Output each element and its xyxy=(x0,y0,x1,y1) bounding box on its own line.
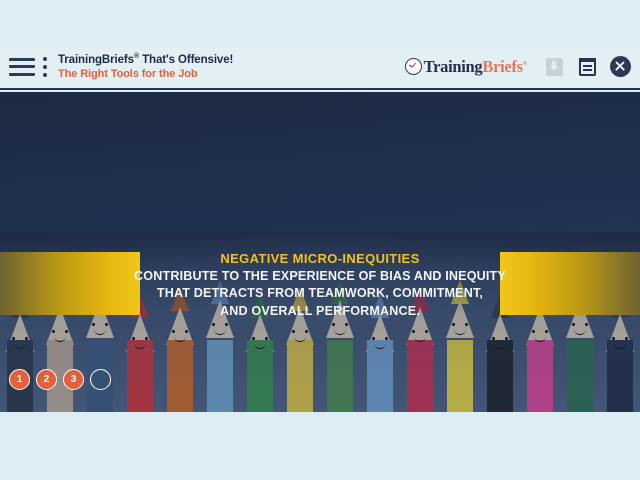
hamburger-line xyxy=(9,73,35,76)
brand-part-briefs: Briefs xyxy=(482,57,522,76)
pencil-eye xyxy=(65,330,68,333)
pencil-eye xyxy=(412,330,415,333)
more-options-icon[interactable] xyxy=(42,57,48,77)
pencil-body xyxy=(327,340,353,412)
kebab-dot xyxy=(43,57,47,61)
pencil-eye xyxy=(625,337,628,340)
pencil-eye xyxy=(292,330,295,333)
header-right-group: TrainingBriefs® xyxy=(405,55,640,79)
pencil-mouth xyxy=(175,337,186,342)
pencil-mouth xyxy=(135,344,146,349)
pencil-body xyxy=(287,340,313,412)
pencil-face xyxy=(369,334,391,354)
notes-icon-line xyxy=(583,69,592,71)
course-player: TrainingBriefs® That's Offensive! The Ri… xyxy=(0,0,640,480)
close-button[interactable] xyxy=(608,55,632,79)
pencil-face xyxy=(609,334,631,354)
close-icon xyxy=(610,56,631,77)
pencil-face xyxy=(449,320,471,340)
pencil-body xyxy=(207,340,233,412)
stopwatch-icon xyxy=(405,58,422,75)
pencil-eye xyxy=(492,337,495,340)
pencil-eye xyxy=(345,323,348,326)
pencil-eye xyxy=(52,330,55,333)
pencil-mouth xyxy=(295,337,306,342)
pencil-body xyxy=(447,340,473,412)
slide-headline: NEGATIVE MICRO-INEQUITIES CONTRIBUTE TO … xyxy=(0,250,640,320)
pencil-face xyxy=(89,320,111,340)
kebab-dot xyxy=(43,73,47,77)
hamburger-menu-icon[interactable] xyxy=(9,58,35,76)
pencil-eye xyxy=(425,330,428,333)
kebab-dot xyxy=(43,65,47,69)
course-subtitle: The Right Tools for the Job xyxy=(58,68,233,81)
pencil-face xyxy=(129,334,151,354)
player-header: TrainingBriefs® That's Offensive! The Ri… xyxy=(0,45,640,90)
pencil-eye xyxy=(385,337,388,340)
pencil-mouth xyxy=(15,344,26,349)
pencil-eye xyxy=(305,330,308,333)
pencil-body xyxy=(567,340,593,412)
slide-canvas: NEGATIVE MICRO-INEQUITIES CONTRIBUTE TO … xyxy=(0,92,640,412)
pencil-mouth xyxy=(335,330,346,335)
pencil-eye xyxy=(212,323,215,326)
pencil-mouth xyxy=(455,330,466,335)
pencil-eye xyxy=(105,323,108,326)
pagination-dot-4[interactable] xyxy=(90,369,111,390)
pencil-body xyxy=(407,340,433,412)
pencil-face xyxy=(289,327,311,347)
pencil-face xyxy=(329,320,351,340)
headline-line-1: CONTRIBUTE TO THE EXPERIENCE OF BIAS AND… xyxy=(0,268,640,286)
headline-line-3: AND OVERALL PERFORMANCE. xyxy=(0,303,640,321)
pencil-eye xyxy=(452,323,455,326)
page-title: TrainingBriefs® That's Offensive! xyxy=(58,53,233,67)
pencil-face xyxy=(169,327,191,347)
pagination-dot-2[interactable]: 2 xyxy=(36,369,57,390)
pencil-mouth xyxy=(95,330,106,335)
pencil-eye xyxy=(172,330,175,333)
pencil-face xyxy=(489,334,511,354)
pencil-mouth xyxy=(535,337,546,342)
pencil-face xyxy=(569,320,591,340)
pencil-mouth xyxy=(415,337,426,342)
pencil-mouth xyxy=(255,344,266,349)
pencil-eye xyxy=(252,337,255,340)
pencil-mouth xyxy=(55,337,66,342)
brand-registered-mark: ® xyxy=(523,61,527,67)
brand-wordmark: TrainingBriefs® xyxy=(424,57,527,77)
pencil-face xyxy=(9,334,31,354)
headline-title: NEGATIVE MICRO-INEQUITIES xyxy=(0,250,640,268)
notes-icon-line xyxy=(583,65,592,67)
pencil-face xyxy=(209,320,231,340)
pencil-eye xyxy=(332,323,335,326)
download-icon xyxy=(546,58,563,76)
pencil-eye xyxy=(372,337,375,340)
pencil-eye xyxy=(92,323,95,326)
course-title-block: TrainingBriefs® That's Offensive! The Ri… xyxy=(58,52,233,81)
trainingbriefs-logo: TrainingBriefs® xyxy=(405,57,527,77)
download-button[interactable] xyxy=(542,55,566,79)
notes-button[interactable] xyxy=(575,55,599,79)
pagination-dot-3[interactable]: 3 xyxy=(63,369,84,390)
hamburger-line xyxy=(9,65,35,68)
pencil-mouth xyxy=(495,344,506,349)
pencil-face xyxy=(409,327,431,347)
pencil-eye xyxy=(465,323,468,326)
pencil-eye xyxy=(545,330,548,333)
pencil-eye xyxy=(572,323,575,326)
pencil-mouth xyxy=(215,330,226,335)
pencil-eye xyxy=(225,323,228,326)
pencil-mouth xyxy=(375,344,386,349)
headline-line-2: THAT DETRACTS FROM TEAMWORK, COMMITMENT, xyxy=(0,285,640,303)
notes-icon xyxy=(579,58,596,76)
pencil-eye xyxy=(265,337,268,340)
pencil-eye xyxy=(612,337,615,340)
pencil-eye xyxy=(585,323,588,326)
brand-part-training: Training xyxy=(424,57,483,76)
pencil-mouth xyxy=(575,330,586,335)
notes-icon-header xyxy=(579,58,596,62)
pencil-eye xyxy=(505,337,508,340)
hamburger-line xyxy=(9,58,35,61)
pencil-eye xyxy=(132,337,135,340)
pencil-eye xyxy=(12,337,15,340)
pencil-eye xyxy=(25,337,28,340)
pagination-dots[interactable]: 123 xyxy=(9,369,111,390)
pencil-body xyxy=(167,340,193,412)
course-title-suffix: That's Offensive! xyxy=(139,54,233,66)
pencil-body xyxy=(527,340,553,412)
course-title-main: TrainingBriefs xyxy=(58,54,134,66)
pencil-eye xyxy=(145,337,148,340)
pencil-face xyxy=(249,334,271,354)
header-left-group: TrainingBriefs® That's Offensive! The Ri… xyxy=(0,45,233,88)
pencil-mouth xyxy=(615,344,626,349)
pencil-face xyxy=(529,327,551,347)
pencil-face xyxy=(49,327,71,347)
pencil-eye xyxy=(185,330,188,333)
pagination-dot-1[interactable]: 1 xyxy=(9,369,30,390)
pencil-eye xyxy=(532,330,535,333)
